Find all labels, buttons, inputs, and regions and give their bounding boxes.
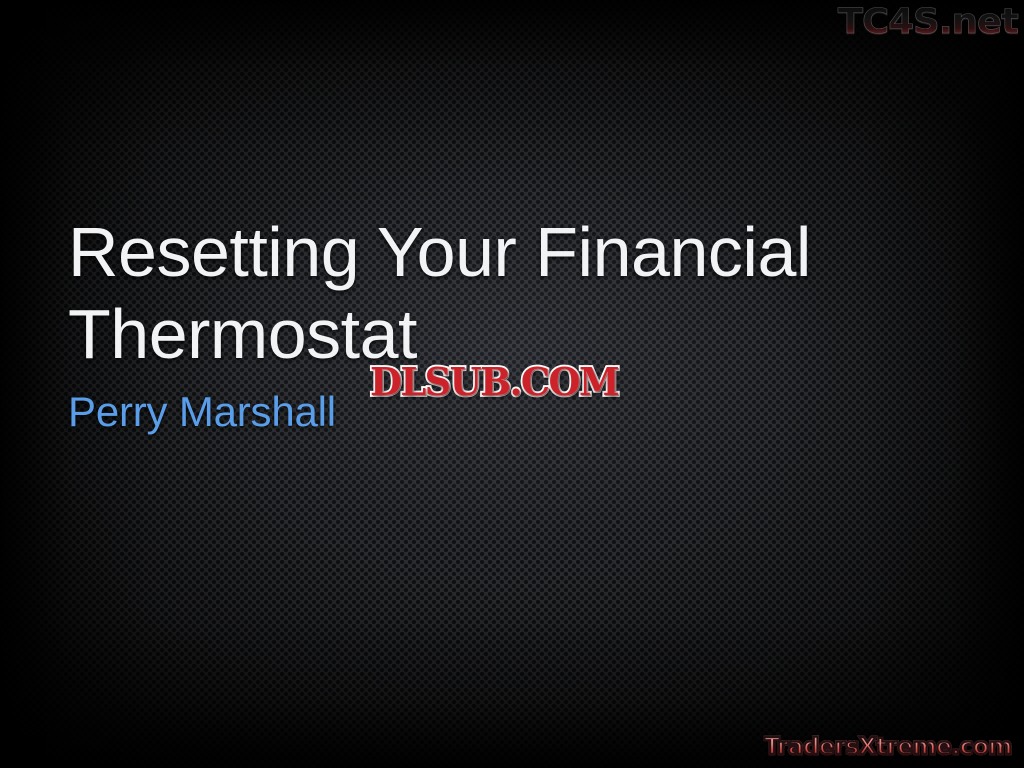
slide-title: Resetting Your Financial Thermostat (68, 211, 908, 375)
presentation-slide: Resetting Your Financial Thermostat Perr… (0, 0, 1024, 768)
watermark-tc4s-net: TC4S.net (838, 2, 1018, 42)
slide-subtitle-author: Perry Marshall (68, 388, 336, 436)
watermark-tradersxtreme-com: TradersXtreme.com (764, 734, 1012, 760)
watermark-dlsub-com: DLSUB.COM (370, 360, 618, 405)
